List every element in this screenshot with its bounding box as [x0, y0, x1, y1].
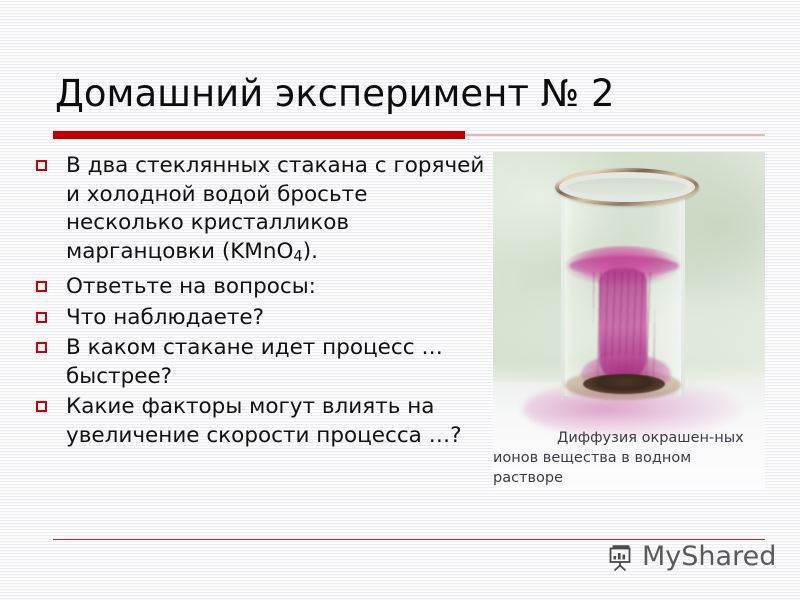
title-underline: [53, 130, 765, 139]
title-underline-thin: [465, 134, 765, 136]
footer-divider: [53, 539, 765, 540]
bullet-item-1-subscript: 4: [293, 248, 302, 265]
glass-rim-opening: [567, 178, 687, 196]
diffusion-photo: Диффузия окрашен-ных ионов вещества в во…: [493, 152, 765, 490]
glass-wall-left: [561, 182, 565, 396]
crystal-sediment: [583, 374, 665, 394]
photo-caption: Диффузия окрашен-ных ионов вещества в во…: [493, 428, 765, 488]
square-bullet-icon: [36, 312, 47, 323]
bullet-item-1-text-after: ).: [303, 239, 318, 264]
glass-rim: [555, 168, 699, 206]
list-item: В два стеклянных стакана с горячей и хол…: [36, 152, 486, 271]
slide: Домашний эксперимент № 2 В два стеклянны…: [0, 0, 800, 600]
list-item: В каком стакане идет процесс … быстрее?: [36, 334, 486, 391]
bullet-list: В два стеклянных стакана с горячей и хол…: [36, 152, 486, 452]
bullet-item-2-label: Ответьте на вопросы:: [66, 273, 486, 302]
glass-beaker: [555, 168, 691, 404]
title-underline-thick: [53, 131, 465, 139]
list-item: Что наблюдаете?: [36, 304, 486, 333]
glass-wall-right: [681, 182, 685, 396]
bullet-item-4-label: В каком стакане идет процесс … быстрее?: [66, 334, 486, 391]
bullet-item-5-label: Какие факторы могут влиять на увеличение…: [66, 393, 486, 450]
list-item: Ответьте на вопросы:: [36, 273, 486, 302]
myshared-logo-text: MyShared: [642, 542, 776, 572]
bullet-item-1-label: В два стеклянных стакана с горячей и хол…: [66, 152, 486, 271]
square-bullet-icon: [36, 342, 47, 353]
page-title: Домашний эксперимент № 2: [55, 72, 755, 116]
square-bullet-icon: [36, 401, 47, 412]
list-item: Какие факторы могут влиять на увеличение…: [36, 393, 486, 450]
bullet-item-3-label: Что наблюдаете?: [66, 304, 486, 333]
presentation-board-chart-icon: [606, 543, 636, 572]
bullet-item-1-text-before: В два стеклянных стакана с горячей и хол…: [66, 153, 484, 264]
myshared-logo[interactable]: MyShared: [606, 542, 776, 572]
square-bullet-icon: [36, 160, 47, 171]
square-bullet-icon: [36, 281, 47, 292]
